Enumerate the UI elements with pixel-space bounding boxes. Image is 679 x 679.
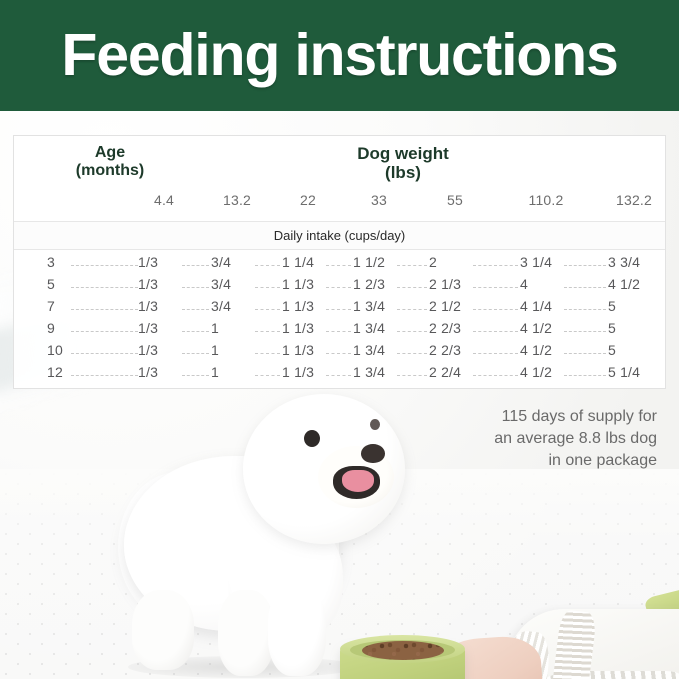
weight-column-label: 13.2 (207, 192, 267, 208)
page-title: Feeding instructions (61, 26, 617, 85)
leader-line (326, 353, 351, 354)
supply-note-line-3: in one package (399, 450, 657, 472)
dog-front-left-leg (268, 584, 326, 676)
intake-cell: 1/3 (138, 276, 158, 292)
dog-weight-column-header: Dog weight (lbs) (310, 144, 496, 182)
leader-line (71, 265, 138, 266)
leader-line (473, 331, 518, 332)
leader-line (473, 287, 518, 288)
dog-nose (361, 444, 385, 463)
intake-cell: 1 3/4 (353, 342, 385, 358)
leader-line (182, 309, 209, 310)
dog-tongue (342, 470, 374, 492)
intake-cell: 1 1/3 (282, 276, 314, 292)
intake-cell: 1/3 (138, 342, 158, 358)
intake-cell: 2 2/3 (429, 320, 461, 336)
intake-cell: 1 1/2 (353, 254, 385, 270)
leader-line (182, 353, 209, 354)
food-bowl (340, 633, 465, 679)
intake-cell: 4 1/2 (520, 342, 552, 358)
intake-cell: 4 1/2 (608, 276, 640, 292)
intake-cell: 3/4 (211, 254, 231, 270)
leader-line (473, 375, 518, 376)
table-header: Age (months) Dog weight (lbs) 4.413.2223… (14, 136, 665, 222)
intake-cell: 3/4 (211, 276, 231, 292)
supply-note-line-2: an average 8.8 lbs dog (399, 428, 657, 450)
age-header-line-2: (months) (47, 162, 173, 180)
leader-line (71, 353, 138, 354)
intake-cell: 3/4 (211, 298, 231, 314)
intake-cell: 1 1/4 (282, 254, 314, 270)
leader-line (255, 353, 280, 354)
leader-line (255, 375, 280, 376)
table-row: 121/311 1/31 3/42 2/44 1/25 1/4 (14, 364, 665, 386)
feeding-table: Age (months) Dog weight (lbs) 4.413.2223… (13, 135, 666, 389)
leader-line (326, 375, 351, 376)
intake-cell: 1 1/3 (282, 364, 314, 380)
leader-line (564, 287, 606, 288)
weight-column-label: 4.4 (134, 192, 194, 208)
leader-line (564, 375, 606, 376)
weight-header-line-1: Dog weight (310, 144, 496, 163)
leader-line (255, 309, 280, 310)
leader-line (326, 287, 351, 288)
weight-column-labels: 4.413.2223355110.2132.2 (14, 192, 665, 218)
age-column-header: Age (months) (47, 144, 173, 180)
table-row: 71/33/41 1/31 3/42 1/24 1/45 (14, 298, 665, 320)
intake-cell: 2 2/4 (429, 364, 461, 380)
leader-line (397, 309, 427, 310)
leader-line (71, 309, 138, 310)
leader-line (326, 331, 351, 332)
age-cell: 3 (47, 254, 55, 270)
age-cell: 9 (47, 320, 55, 336)
table-row: 101/311 1/31 3/42 2/34 1/25 (14, 342, 665, 364)
intake-cell: 2 (429, 254, 437, 270)
weight-column-label: 110.2 (516, 192, 576, 208)
intake-cell: 1/3 (138, 298, 158, 314)
leader-line (71, 331, 138, 332)
supply-note: 115 days of supply for an average 8.8 lb… (399, 406, 657, 472)
age-cell: 7 (47, 298, 55, 314)
weight-column-label: 33 (349, 192, 409, 208)
leader-line (71, 287, 138, 288)
kibble-food (362, 641, 444, 660)
intake-cell: 1 3/4 (353, 298, 385, 314)
leader-line (397, 265, 427, 266)
age-cell: 10 (47, 342, 63, 358)
supply-note-line-1: 115 days of supply for (399, 406, 657, 428)
intake-cell: 1 (211, 342, 219, 358)
age-header-line-1: Age (47, 144, 173, 162)
intake-cell: 3 3/4 (608, 254, 640, 270)
intake-cell: 5 (608, 320, 616, 336)
leader-line (564, 353, 606, 354)
weight-header-line-2: (lbs) (310, 163, 496, 182)
intake-cell: 1 1/3 (282, 342, 314, 358)
weight-column-label: 132.2 (604, 192, 664, 208)
intake-cell: 1 1/3 (282, 298, 314, 314)
intake-cell: 4 1/2 (520, 364, 552, 380)
leader-line (182, 331, 209, 332)
leader-line (255, 265, 280, 266)
leader-line (473, 309, 518, 310)
dog-front-right-leg (218, 590, 274, 676)
dog-eye-left (304, 430, 320, 447)
weight-column-label: 22 (278, 192, 338, 208)
table-body: 31/33/41 1/41 1/223 1/43 3/451/33/41 1/3… (14, 250, 665, 387)
table-row: 31/33/41 1/41 1/223 1/43 3/4 (14, 254, 665, 276)
leader-line (397, 287, 427, 288)
intake-cell: 2 1/2 (429, 298, 461, 314)
intake-cell: 4 1/2 (520, 320, 552, 336)
leader-line (255, 331, 280, 332)
intake-cell: 1 3/4 (353, 364, 385, 380)
leader-line (182, 375, 209, 376)
intake-cell: 1/3 (138, 320, 158, 336)
leader-line (397, 331, 427, 332)
age-cell: 5 (47, 276, 55, 292)
intake-cell: 1/3 (138, 254, 158, 270)
intake-cell: 4 (520, 276, 528, 292)
intake-cell: 1 2/3 (353, 276, 385, 292)
leader-line (473, 353, 518, 354)
age-cell: 12 (47, 364, 63, 380)
daily-intake-label: Daily intake (cups/day) (274, 228, 406, 243)
leader-line (71, 375, 138, 376)
intake-cell: 1 (211, 364, 219, 380)
intake-cell: 1/3 (138, 364, 158, 380)
header-banner: Feeding instructions (0, 0, 679, 111)
leader-line (397, 353, 427, 354)
intake-cell: 1 1/3 (282, 320, 314, 336)
leader-line (182, 265, 209, 266)
intake-cell: 5 (608, 298, 616, 314)
table-row: 51/33/41 1/31 2/32 1/344 1/2 (14, 276, 665, 298)
leader-line (326, 265, 351, 266)
intake-cell: 4 1/4 (520, 298, 552, 314)
intake-cell: 5 1/4 (608, 364, 640, 380)
leader-line (564, 265, 606, 266)
dog-eye-right (370, 419, 380, 430)
weight-column-label: 55 (425, 192, 485, 208)
intake-cell: 2 1/3 (429, 276, 461, 292)
intake-cell: 5 (608, 342, 616, 358)
leader-line (397, 375, 427, 376)
dog-back-leg (132, 590, 194, 670)
leader-line (182, 287, 209, 288)
intake-cell: 1 3/4 (353, 320, 385, 336)
daily-intake-subheader: Daily intake (cups/day) (14, 222, 665, 250)
leader-line (255, 287, 280, 288)
intake-cell: 2 2/3 (429, 342, 461, 358)
feeding-instructions-infographic: Feeding instructions (0, 0, 679, 679)
intake-cell: 1 (211, 320, 219, 336)
intake-cell: 3 1/4 (520, 254, 552, 270)
leader-line (326, 309, 351, 310)
table-row: 91/311 1/31 3/42 2/34 1/25 (14, 320, 665, 342)
leader-line (564, 331, 606, 332)
leader-line (564, 309, 606, 310)
leader-line (473, 265, 518, 266)
